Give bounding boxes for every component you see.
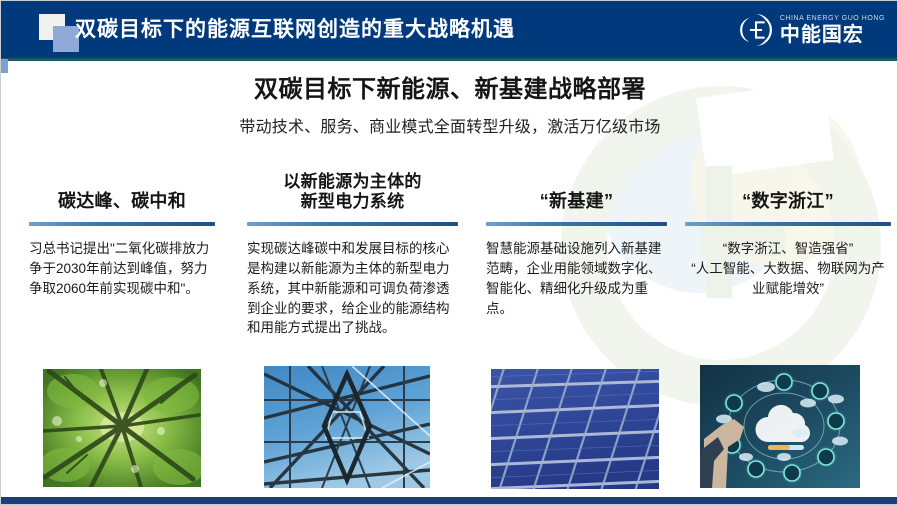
logo-english-name: CHINA ENERGY GUO HONG <box>780 15 885 22</box>
forest-canopy-photo <box>43 369 201 487</box>
page-subtitle: 带动技术、服务、商业模式全面转型升级，激活万亿级市场 <box>1 113 898 137</box>
title-block: 双碳目标下新能源、新基建战略部署 带动技术、服务、商业模式全面转型升级，激活万亿… <box>1 76 898 137</box>
company-logo: CHINA ENERGY GUO HONG 中能国宏 <box>739 12 885 48</box>
column-new-power-system: 以新能源为主体的新型电力系统 实现碳达峰碳中和发展目标的核心是构建以新能源为主体… <box>239 161 472 361</box>
column-1-rule <box>29 222 215 226</box>
column-1-body: 习总书记提出"二氧化碳排放力争于2030年前达到峰值，努力争取2060年前实现碳… <box>29 239 215 299</box>
cloud-computing-photo <box>700 365 860 488</box>
slide-canvas: 双碳目标下的能源互联网创造的重大战略机遇 CHINA ENERGY GUO HO… <box>0 0 898 505</box>
column-group: 碳达峰、碳中和 习总书记提出"二氧化碳排放力争于2030年前达到峰值，努力争取2… <box>1 161 898 361</box>
column-4-rule <box>685 222 891 226</box>
transmission-tower-photo <box>264 366 430 488</box>
column-2-rule <box>247 222 458 226</box>
column-3-heading: “新基建” <box>486 161 667 213</box>
header-underline <box>1 58 898 61</box>
column-4-heading: “数字浙江” <box>685 161 891 213</box>
logo-chinese-name: 中能国宏 <box>780 25 885 45</box>
column-digital-zhejiang: “数字浙江” “数字浙江、智造强省”“人工智能、大数据、物联网为产业赋能增效” <box>677 161 898 361</box>
column-carbon-peak: 碳达峰、碳中和 习总书记提出"二氧化碳排放力争于2030年前达到峰值，努力争取2… <box>1 161 239 361</box>
column-2-heading: 以新能源为主体的新型电力系统 <box>247 161 458 213</box>
guohong-logo-icon <box>739 13 773 47</box>
photo-row <box>1 363 898 493</box>
column-new-infrastructure: “新基建” 智慧能源基础设施列入新基建范畴，企业用能领域数字化、智能化、精细化升… <box>472 161 677 361</box>
column-3-rule <box>486 222 667 226</box>
header-left-tab <box>1 59 8 73</box>
column-4-body: “数字浙江、智造强省”“人工智能、大数据、物联网为产业赋能增效” <box>685 239 891 299</box>
header-bar: 双碳目标下的能源互联网创造的重大战略机遇 CHINA ENERGY GUO HO… <box>1 1 898 58</box>
page-title: 双碳目标下新能源、新基建战略部署 <box>1 76 898 104</box>
column-3-body: 智慧能源基础设施列入新基建范畴，企业用能领域数字化、智能化、精细化升级成为重点。 <box>486 239 667 318</box>
solar-panel-photo <box>491 369 659 489</box>
column-2-body: 实现碳达峰碳中和发展目标的核心是构建以新能源为主体的新型电力系统，其中新能源和可… <box>247 239 458 338</box>
bottom-accent-bar <box>1 497 898 504</box>
column-1-heading: 碳达峰、碳中和 <box>29 161 215 213</box>
header-title: 双碳目标下的能源互联网创造的重大战略机遇 <box>75 13 515 43</box>
logo-text-group: CHINA ENERGY GUO HONG 中能国宏 <box>780 15 885 45</box>
